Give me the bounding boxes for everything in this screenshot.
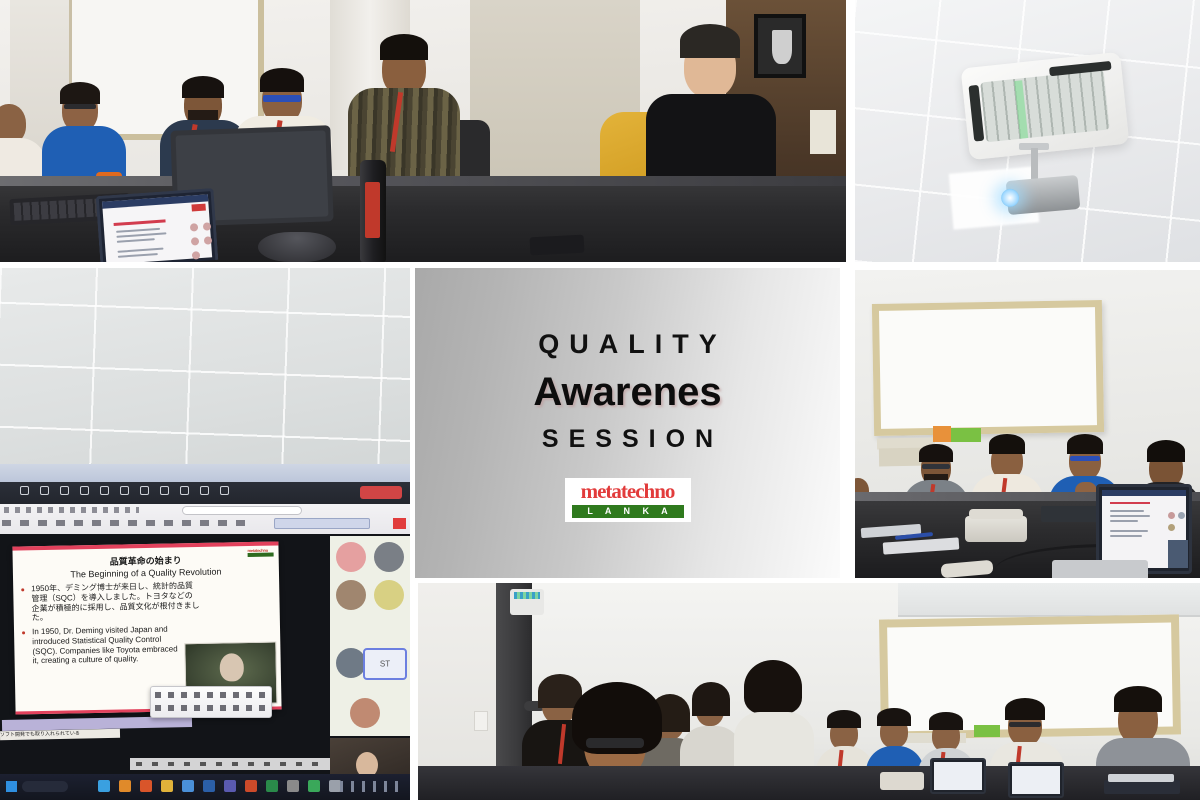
hair xyxy=(60,82,100,104)
leave-meeting-button xyxy=(360,486,402,499)
ribbon-quick-access xyxy=(4,507,139,513)
hair xyxy=(680,24,740,58)
participant-avatar xyxy=(350,698,380,728)
participant-avatar xyxy=(191,237,200,246)
computer-monitor: metatechno 品質革命の始まり The Beginning of a Q… xyxy=(0,482,410,800)
slide-accent-line xyxy=(114,219,166,226)
slide-logo-bar xyxy=(248,553,274,557)
more-icon xyxy=(220,486,229,495)
notes-icon xyxy=(287,780,299,792)
eyeglasses xyxy=(64,104,96,109)
title-card: QUALITY Awarenes SESSION metatechno L A … xyxy=(415,268,840,578)
powerpoint-status-bar xyxy=(130,758,330,770)
hair xyxy=(1114,686,1162,712)
participant-avatar xyxy=(336,648,366,678)
participant-avatar xyxy=(192,251,201,260)
laptop-open xyxy=(1008,762,1064,798)
participant-avatar xyxy=(1168,512,1175,519)
title-line-session: SESSION xyxy=(532,427,723,452)
photo-panel-whiteboard-room xyxy=(855,270,1200,578)
photo-panel-classroom xyxy=(418,583,1200,800)
title-line-quality: QUALITY xyxy=(528,331,727,358)
participant-avatar xyxy=(1168,524,1175,531)
slide-text-line xyxy=(117,248,163,253)
desk-telephone xyxy=(965,516,1027,542)
slide-footer-text: ソフト開発でも取り入れられている xyxy=(0,729,120,741)
metatechno-logo: metatechno L A N K A xyxy=(565,478,691,522)
participant-avatar xyxy=(374,580,404,610)
photo-panel-teams-screen: metatechno 品質革命の始まり The Beginning of a Q… xyxy=(0,268,410,800)
participant-initials: ST xyxy=(380,660,390,669)
eyeglasses xyxy=(586,738,644,748)
teams-meeting-toolbar xyxy=(0,482,410,504)
chat-icon xyxy=(60,486,69,495)
taskbar-search-box xyxy=(22,781,68,792)
hair xyxy=(692,682,730,716)
slide-text-line xyxy=(1110,520,1138,522)
edge-icon xyxy=(119,780,131,792)
powerpoint-icon xyxy=(245,780,257,792)
teams-present-button xyxy=(274,518,370,529)
wall-mounted-dispenser xyxy=(510,589,544,615)
whatsapp-icon xyxy=(308,780,320,792)
windows-taskbar xyxy=(0,774,410,800)
windows-start-icon xyxy=(6,781,17,792)
teams-toolbar-icons xyxy=(20,486,229,495)
certificate xyxy=(810,110,836,154)
whiteboard xyxy=(872,300,1104,436)
slide-bullet-english: In 1950, Dr. Deming visited Japan and in… xyxy=(29,624,180,666)
eyeglasses xyxy=(1009,722,1041,727)
folder-green xyxy=(951,428,981,442)
document-stack xyxy=(1108,774,1174,782)
document-stack xyxy=(1104,780,1180,794)
slide-text-line xyxy=(116,228,160,233)
participant-initials-tile: ST xyxy=(363,648,407,680)
hair xyxy=(1005,698,1045,720)
ceiling-edge xyxy=(898,583,1200,617)
hair xyxy=(260,68,304,92)
laptop-screen xyxy=(1012,766,1060,794)
hair xyxy=(1147,440,1185,462)
view-icon xyxy=(140,486,149,495)
folder-icon xyxy=(161,780,173,792)
hair xyxy=(929,712,963,730)
slide-text-line xyxy=(1110,530,1148,532)
notes-icon xyxy=(160,486,169,495)
reactions-icon xyxy=(120,486,129,495)
raise-hand-icon xyxy=(100,486,109,495)
eyeglasses xyxy=(1070,456,1100,461)
logo-subtitle-lanka: L A N K A xyxy=(572,505,684,518)
taskbar-app-icons xyxy=(98,780,341,792)
folder-orange xyxy=(933,426,951,442)
participant-avatar xyxy=(190,223,199,232)
thermos-flask xyxy=(360,160,386,262)
slide-logo: metatechno xyxy=(247,548,273,560)
training-table xyxy=(418,766,1200,800)
participant-avatar xyxy=(204,236,213,245)
slide-text-line xyxy=(118,253,158,258)
taskbar-system-tray xyxy=(340,781,404,792)
ceiling-projector xyxy=(1006,175,1081,215)
slide-text-line xyxy=(1110,515,1150,517)
participant-video-tile xyxy=(1168,540,1188,568)
participant-avatar xyxy=(374,542,404,572)
mobile-phone xyxy=(530,235,585,256)
powerpoint-ribbon xyxy=(0,504,410,534)
hair xyxy=(989,434,1025,454)
title-line-awareness: Awarenes xyxy=(533,372,721,412)
record-indicator xyxy=(393,518,406,529)
slide-text-line xyxy=(116,232,166,237)
slide-text-line xyxy=(1110,510,1144,512)
ribbon-search-box xyxy=(182,506,302,515)
participant-avatar xyxy=(336,580,366,610)
hair xyxy=(1067,434,1103,454)
photo-panel-meeting-room xyxy=(0,0,846,262)
light-switch xyxy=(474,711,488,731)
laptop-open xyxy=(96,188,219,262)
logo-wordmark: metatechno xyxy=(572,481,684,502)
photo-collage: metatechno 品質革命の始まり The Beginning of a Q… xyxy=(0,0,1200,800)
firefox-icon xyxy=(140,780,152,792)
participant-avatar xyxy=(1178,512,1185,519)
laptop-open xyxy=(930,758,986,794)
microphone-icon xyxy=(40,486,49,495)
teams-participant-roster: ST xyxy=(330,536,410,736)
eyeglasses xyxy=(922,464,950,469)
floating-format-toolbar xyxy=(150,686,272,718)
explorer-icon xyxy=(98,780,110,792)
desk-telephone xyxy=(880,772,924,790)
hair xyxy=(827,710,861,728)
ac-grille xyxy=(980,70,1110,143)
slide-text-line xyxy=(1110,535,1142,537)
conference-speakerphone xyxy=(258,232,336,262)
rooms-icon xyxy=(180,486,189,495)
projector-mount-arm xyxy=(1031,148,1038,182)
participant-avatar xyxy=(203,222,212,231)
record-button xyxy=(191,204,205,212)
laptop-screen xyxy=(102,194,212,262)
framed-picture xyxy=(754,14,806,78)
slide-text-line xyxy=(117,238,155,243)
hair xyxy=(877,708,911,726)
chrome-icon xyxy=(182,780,194,792)
hair xyxy=(380,34,428,60)
photo-panel-ceiling-projector xyxy=(855,0,1200,262)
laptop-screen xyxy=(1102,490,1186,568)
slide-bullet-japanese: 1950年、デミング博士が来日し、統計的品質管理（SQC）を導入しました。トヨタ… xyxy=(28,581,201,623)
apps-icon xyxy=(200,486,209,495)
laptop-keyboard xyxy=(1052,560,1148,578)
window-title-bar xyxy=(1102,490,1186,496)
people-icon xyxy=(80,486,89,495)
outlook-icon xyxy=(203,780,215,792)
camera-icon xyxy=(20,486,29,495)
eyeglasses xyxy=(263,95,301,102)
ribbon-tabs xyxy=(2,520,252,526)
excel-icon xyxy=(266,780,278,792)
laptop-screen xyxy=(934,762,982,790)
participant-avatar xyxy=(336,542,366,572)
slide-accent-line xyxy=(1110,502,1150,504)
hair xyxy=(182,76,224,98)
hair xyxy=(744,660,802,714)
teams-icon xyxy=(224,780,236,792)
folder-green xyxy=(974,725,1000,737)
hair xyxy=(919,444,953,462)
